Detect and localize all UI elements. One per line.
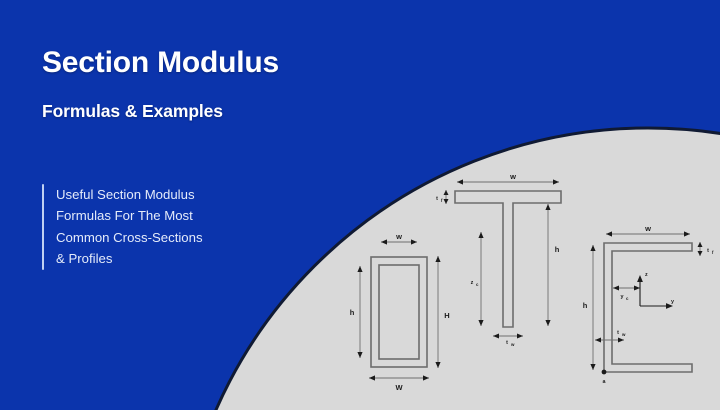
label-channel-height: h [583, 301, 588, 310]
label-channel-web-thickness-sub: w [621, 332, 626, 337]
label-channel-flange-width: w [644, 224, 651, 233]
blurb-block: Useful Section Modulus Formulas For The … [42, 184, 271, 270]
label-t-centroid: z [471, 280, 474, 286]
label-channel-centroid: y [621, 294, 624, 300]
blurb-line-3: Common Cross-Sections [56, 227, 271, 248]
label-channel-axis-z: z [645, 272, 648, 278]
accent-bar [42, 184, 44, 270]
page-subtitle: Formulas & Examples [42, 103, 362, 121]
blurb-text: Useful Section Modulus Formulas For The … [56, 184, 271, 270]
label-t-flange-width: w [509, 172, 516, 181]
channel-corner-point-marker [602, 370, 607, 375]
blurb-line-1: Useful Section Modulus [56, 184, 271, 205]
label-rect-inner-height: h [350, 308, 355, 317]
label-t-height: h [555, 245, 560, 254]
poster-canvas: w W h H w [0, 0, 720, 410]
blurb-line-2: Formulas For The Most [56, 205, 271, 226]
label-rect-outer-height: H [444, 311, 449, 320]
label-t-web-thickness-sub: w [510, 342, 515, 347]
label-t-web-thickness: t [506, 340, 508, 346]
label-channel-web-thickness: t [617, 330, 619, 336]
page-title: Section Modulus [42, 48, 362, 78]
label-channel-axis-y: y [671, 299, 674, 305]
label-rect-outer-width: W [395, 383, 403, 392]
label-t-flange-thickness: t [436, 196, 438, 202]
text-column: Section Modulus Formulas & Examples Usef… [42, 0, 342, 410]
blurb-line-4: & Profiles [56, 248, 271, 269]
label-rect-inner-width: w [395, 232, 402, 241]
label-channel-flange-thickness: t [707, 248, 709, 254]
